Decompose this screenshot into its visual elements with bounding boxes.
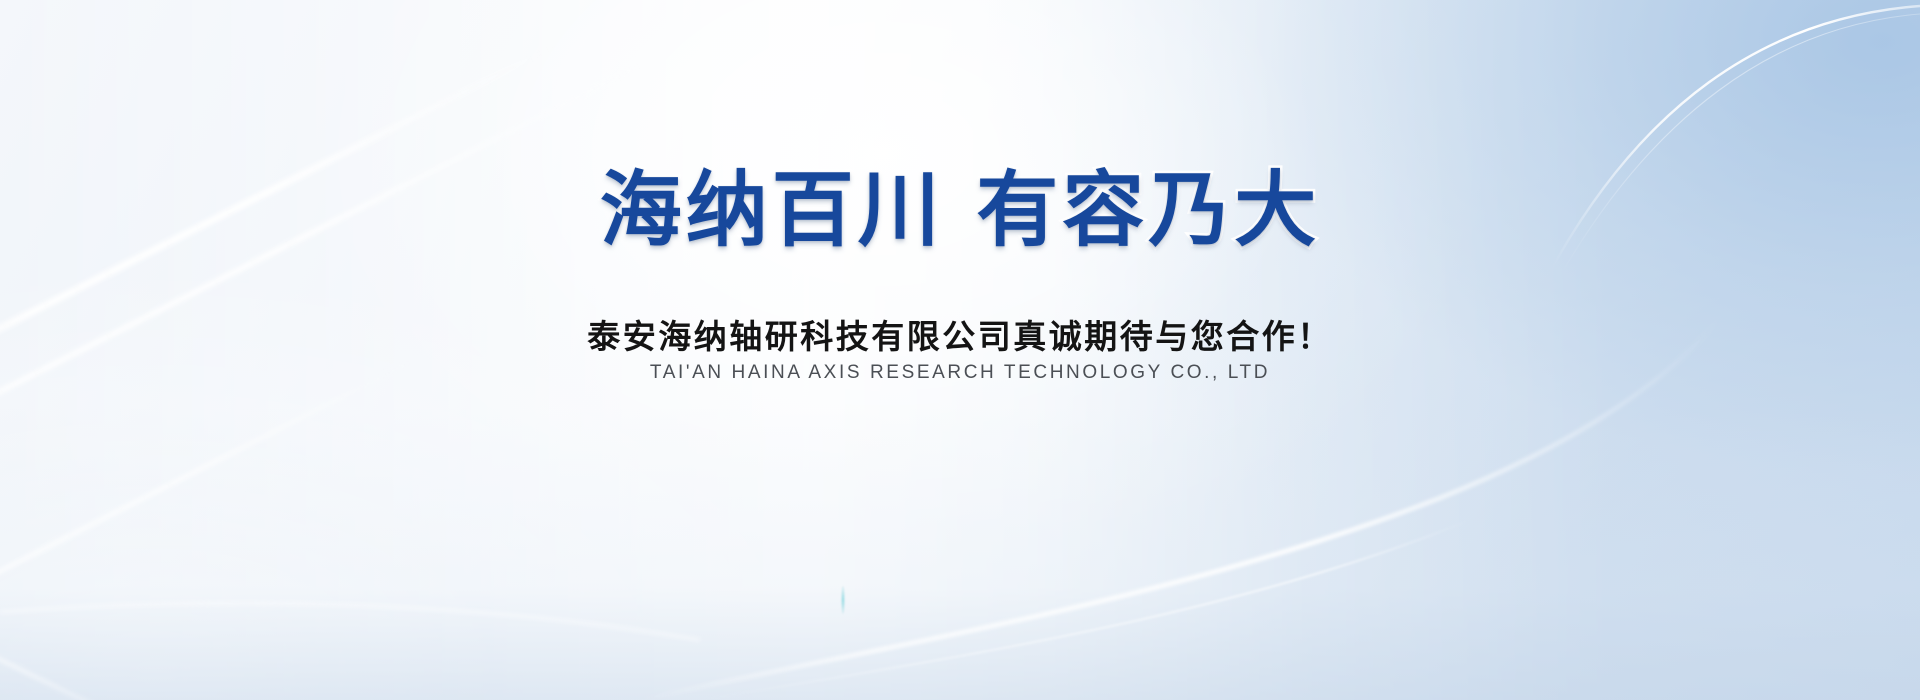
banner-content: 海纳百川 有容乃大 泰安海纳轴研科技有限公司真诚期待与您合作！ TAI'AN H… [0,0,1920,700]
page-title: 海纳百川 有容乃大 [0,168,1920,254]
subtitle-chinese: 泰安海纳轴研科技有限公司真诚期待与您合作！ [0,310,1920,358]
subtitle-english: TAI'AN HAINA AXIS RESEARCH TECHNOLOGY CO… [0,362,1920,384]
hero-banner: 海纳百川 有容乃大 泰安海纳轴研科技有限公司真诚期待与您合作！ TAI'AN H… [0,0,1920,700]
